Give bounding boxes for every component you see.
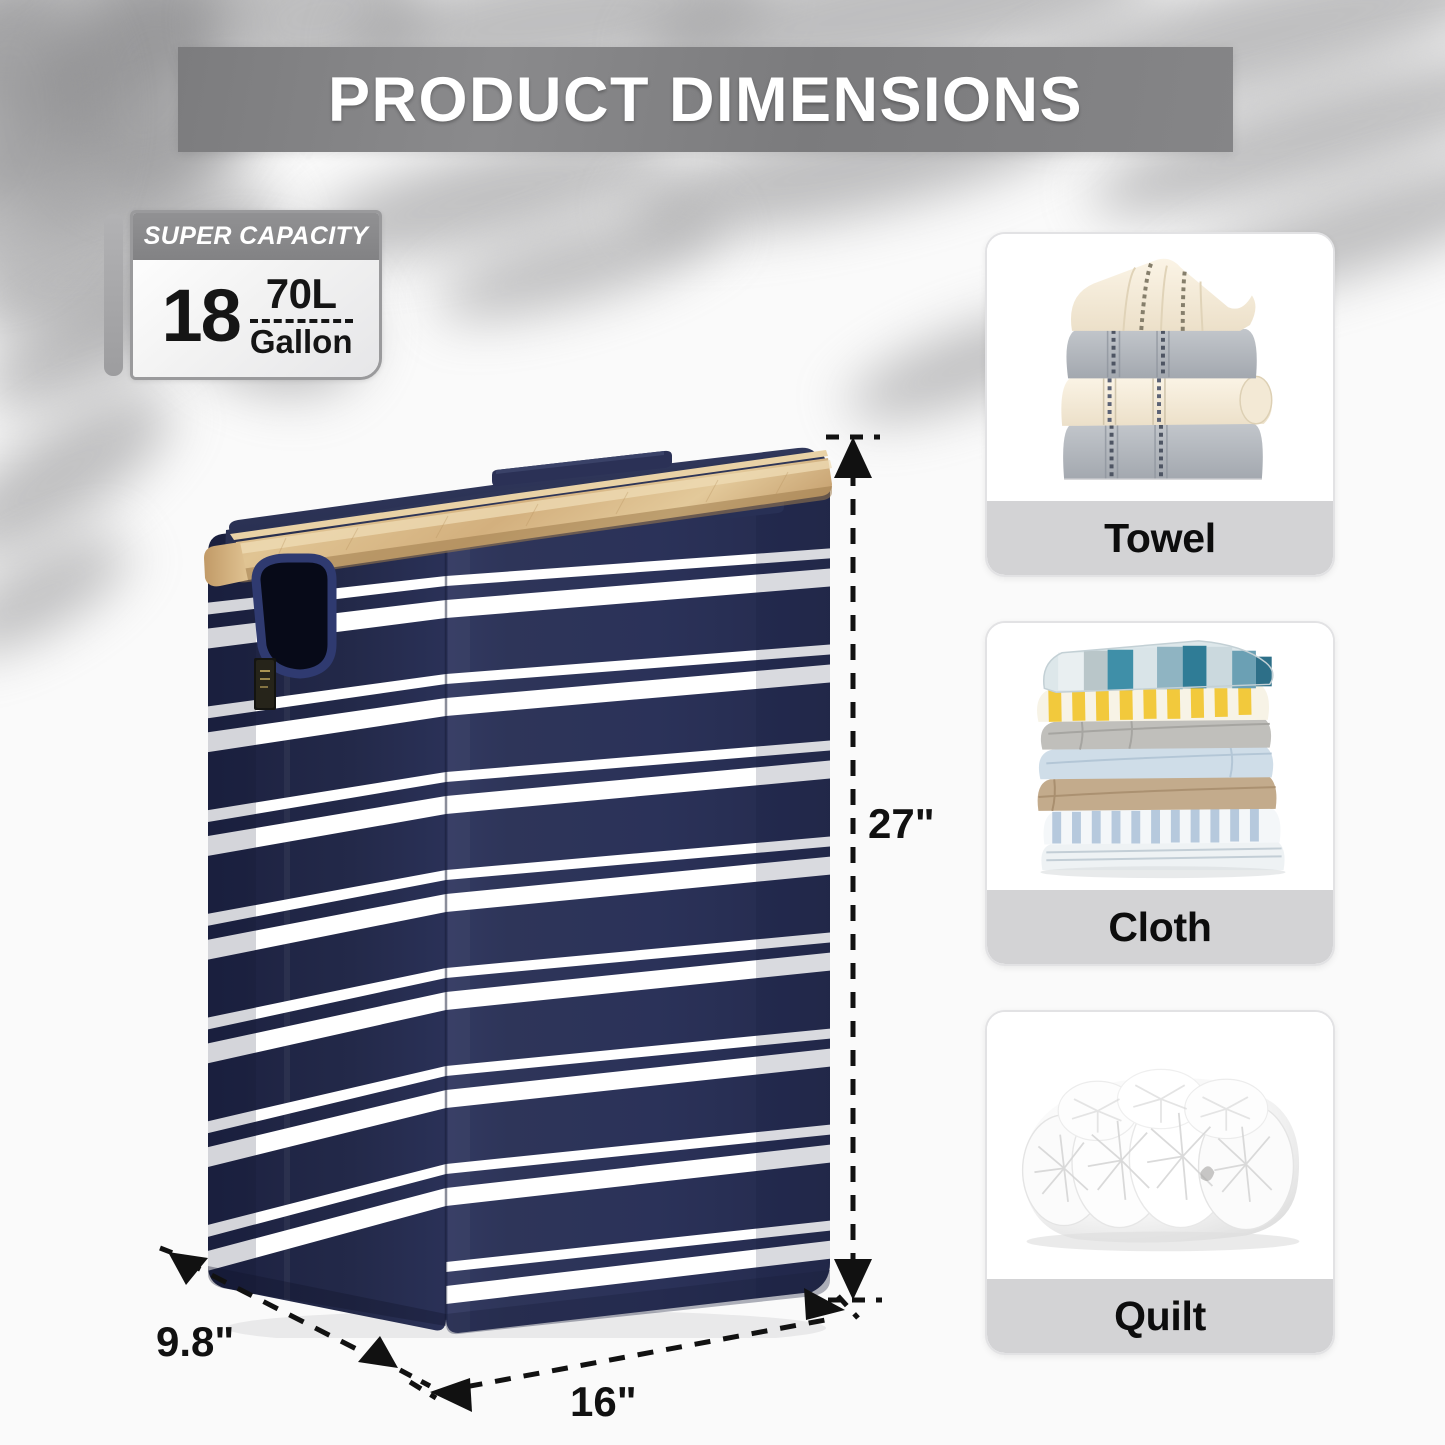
badge-body: 18 70L Gallon [133, 260, 379, 377]
card-label-bar: Towel [987, 501, 1333, 575]
header-banner: PRODUCT DIMENSIONS [178, 47, 1233, 152]
use-card-quilt[interactable]: Quilt [985, 1010, 1335, 1355]
card-label-text: Cloth [1108, 904, 1211, 951]
quilt-roll-image [987, 1012, 1333, 1279]
capacity-liters-value: 70L [266, 273, 337, 315]
badge-header-label: SUPER CAPACITY [144, 222, 369, 251]
card-label-bar: Cloth [987, 890, 1333, 964]
use-card-cloth[interactable]: Cloth [985, 621, 1335, 966]
cloth-stack-image [987, 623, 1333, 890]
card-label-text: Towel [1104, 515, 1216, 562]
badge-header-bar: SUPER CAPACITY [133, 213, 379, 260]
brand-tag [254, 658, 276, 710]
page-title: PRODUCT DIMENSIONS [328, 64, 1083, 136]
card-label-bar: Quilt [987, 1279, 1333, 1353]
use-case-cards: Towel [985, 232, 1335, 1399]
super-capacity-badge: SUPER CAPACITY 18 70L Gallon [130, 210, 382, 380]
product-hamper-image [196, 408, 846, 1338]
side-handle-cutout [256, 558, 332, 674]
use-card-towel[interactable]: Towel [985, 232, 1335, 577]
capacity-unit-label: Gallon [250, 325, 353, 360]
towel-stack-image [987, 234, 1333, 501]
capacity-units-group: 70L Gallon [250, 273, 353, 360]
badge-side-accent-bar [104, 214, 123, 376]
hamper-front-face [436, 448, 846, 1338]
card-label-text: Quilt [1114, 1293, 1206, 1340]
lid-bamboo-left-rail [204, 542, 248, 586]
capacity-gallons-value: 18 [162, 282, 240, 350]
capacity-badge-group: SUPER CAPACITY 18 70L Gallon [104, 210, 382, 380]
